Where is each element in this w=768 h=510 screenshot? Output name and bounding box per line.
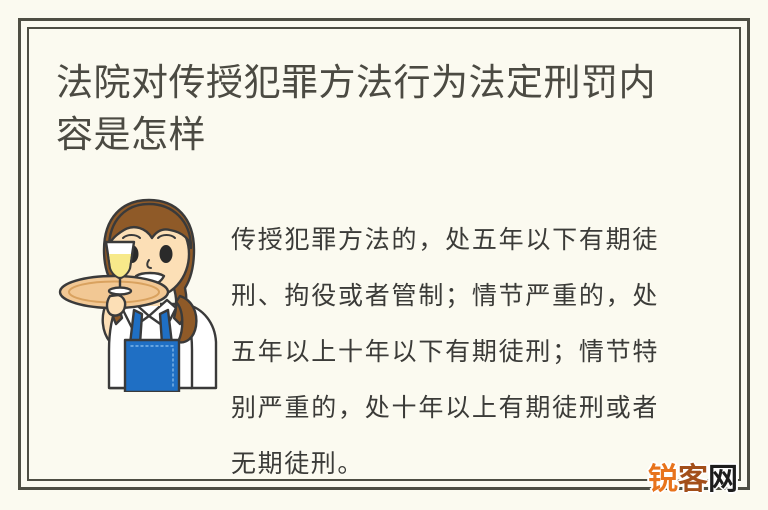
watermark-char-3: 网 bbox=[708, 463, 738, 497]
watermark-char-1: 锐 bbox=[648, 463, 678, 497]
article-body-text: 传授犯罪方法的，处五年以下有期徒刑、拘役或者管制；情节严重的，处五年以上十年以下… bbox=[231, 212, 659, 492]
waitress-illustration bbox=[52, 192, 224, 392]
waitress-illustration-svg bbox=[52, 192, 224, 392]
apron-body bbox=[125, 340, 179, 392]
left-hand bbox=[107, 295, 125, 316]
wine-glass-foot bbox=[109, 288, 131, 295]
site-watermark: 锐 客 网 bbox=[648, 463, 738, 497]
eye-right bbox=[160, 245, 173, 263]
page-title: 法院对传授犯罪方法行为法定刑罚内容是怎样 bbox=[56, 57, 676, 161]
watermark-char-2: 客 bbox=[678, 463, 708, 497]
article-image-canvas: 法院对传授犯罪方法行为法定刑罚内容是怎样 bbox=[0, 0, 768, 510]
